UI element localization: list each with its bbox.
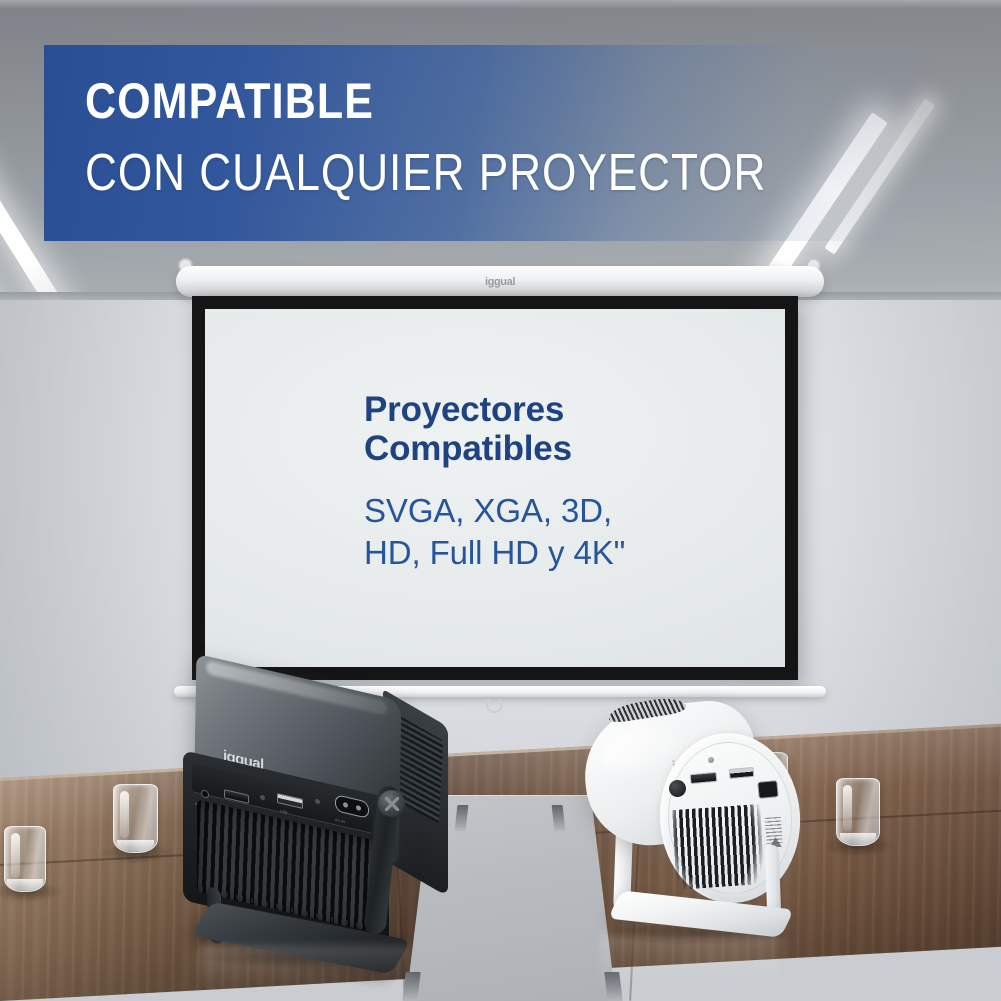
product-marketing-image: iggual Proyectores Compatibles SVGA, XGA… <box>0 0 1001 1001</box>
projected-heading: Proyectores Compatibles <box>364 390 694 468</box>
dc-power-port[interactable] <box>757 780 778 799</box>
dark-projector: iggual AUDIO OUT HDMI USB AC IN <box>175 668 460 958</box>
screen-roller-housing: iggual <box>176 266 824 297</box>
projected-content: Proyectores Compatibles SVGA, XGA, 3D, H… <box>364 390 694 573</box>
glass-highlight <box>120 791 129 838</box>
rear-panel-screw <box>708 757 714 763</box>
dark-projector-tilt-hinge[interactable] <box>378 790 405 817</box>
power-pin <box>356 805 361 811</box>
projected-heading-line2: Compatibles <box>364 429 694 468</box>
status-led <box>315 798 320 804</box>
projected-specs-line1: SVGA, XGA, 3D, <box>364 490 694 531</box>
projected-heading-line1: Proyectores <box>364 390 694 429</box>
headline-secondary: CON CUALQUIER PROYECTOR <box>85 143 766 203</box>
headline-banner: COMPATIBLE CON CUALQUIER PROYECTOR <box>44 45 969 241</box>
projected-specs-line2: HD, Full HD y 4K" <box>364 532 694 573</box>
projected-specs: SVGA, XGA, 3D, HD, Full HD y 4K" <box>364 490 694 573</box>
drinking-glass <box>113 784 158 853</box>
glass-base <box>840 833 877 844</box>
table-reflection-dark-projector <box>200 945 410 995</box>
white-projector: iggual <box>580 695 815 950</box>
power-pin <box>343 802 348 808</box>
glass-base <box>117 840 155 851</box>
drinking-glass <box>836 778 880 846</box>
glass-highlight <box>843 785 852 831</box>
white-projector-exhaust-vent <box>669 804 766 890</box>
ceiling-edge <box>0 0 1001 9</box>
glass-highlight <box>11 833 20 878</box>
drinking-glass <box>4 826 46 892</box>
glass-base <box>7 879 42 890</box>
table-reflection-white-projector <box>600 935 780 990</box>
housing-brand-logo: iggual <box>485 276 515 288</box>
body-top-highlight <box>206 660 387 716</box>
status-led <box>260 794 265 800</box>
headline-primary: COMPATIBLE <box>85 72 374 130</box>
screen-pull-ring <box>486 696 503 713</box>
